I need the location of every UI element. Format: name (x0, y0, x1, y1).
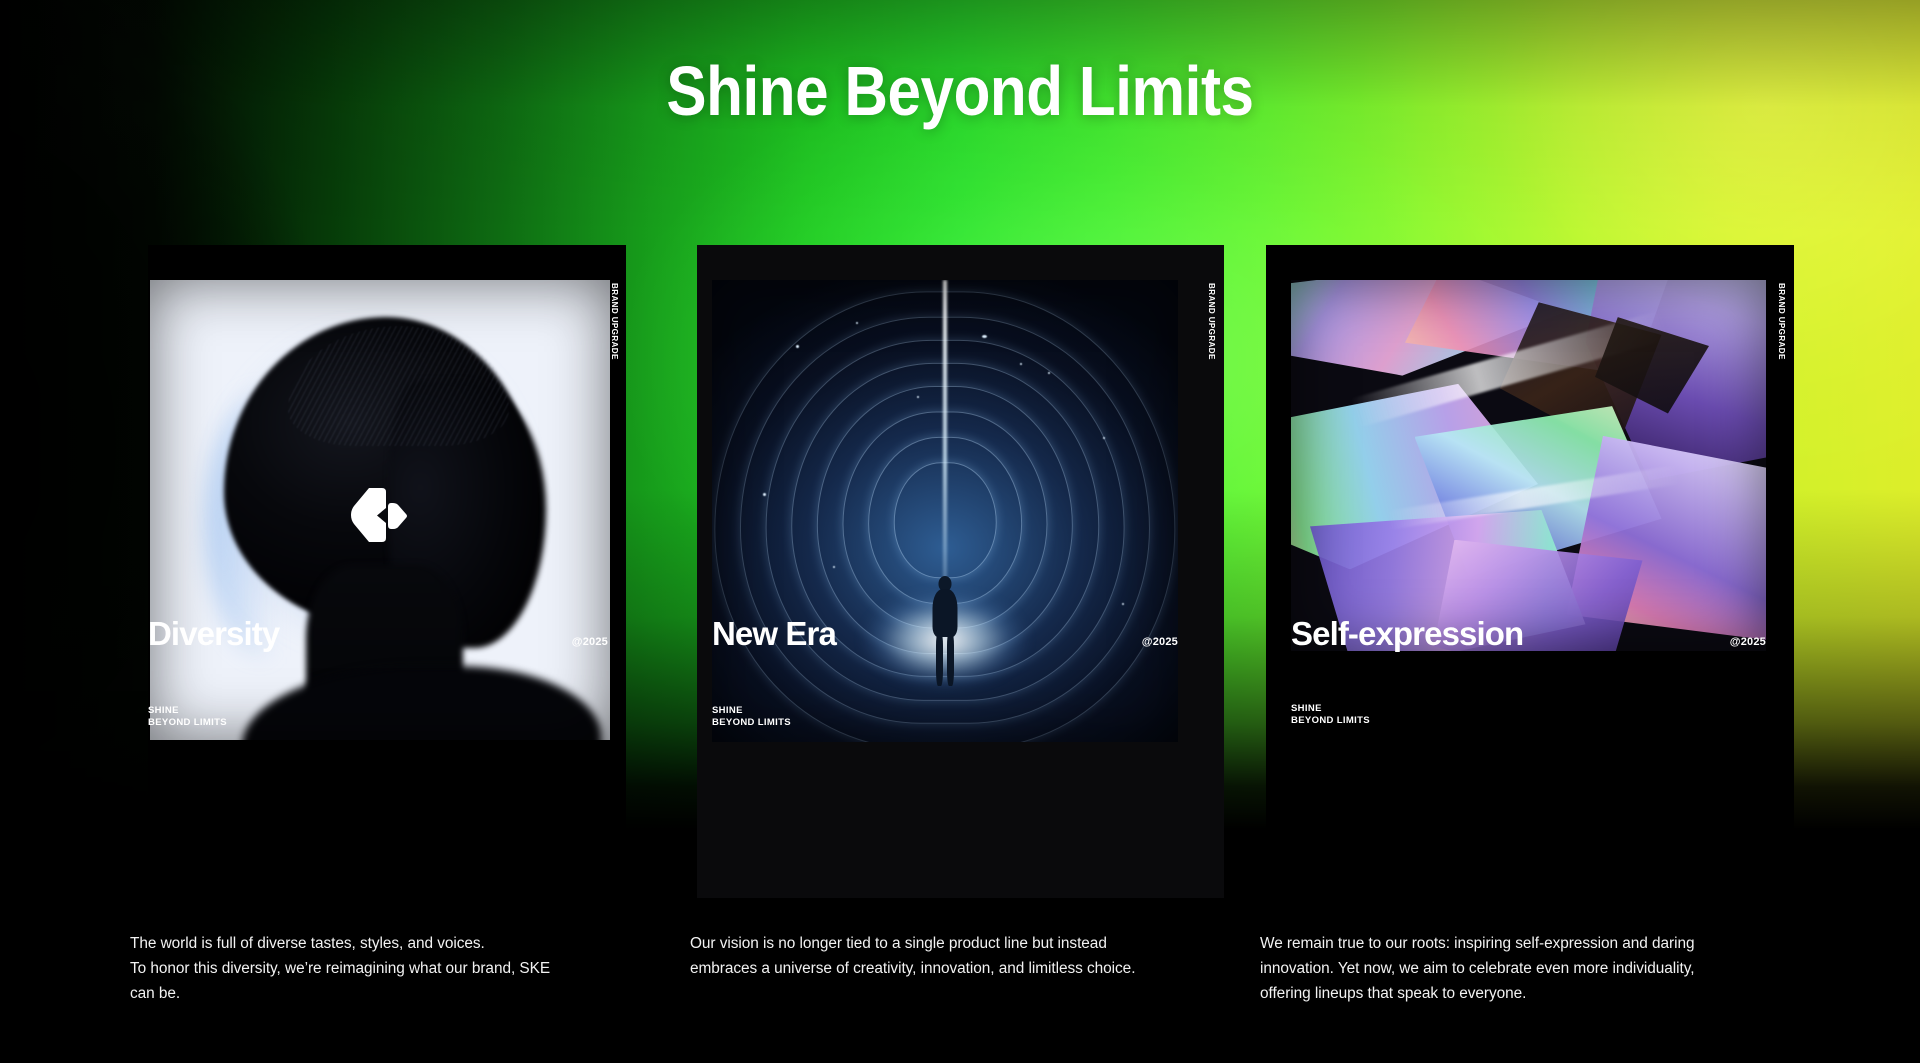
card-self-expression-footer: SHINE BEYOND LIMITS (1291, 703, 1370, 727)
description-self-expression-line3: offering lineups that speak to everyone. (1260, 982, 1805, 1007)
card-diversity-footer-line1: SHINE (148, 705, 227, 717)
card-new-era-title-row: New Era @2025 (712, 617, 1178, 650)
tunnel-star (917, 396, 919, 398)
tunnel-light-beam (943, 280, 947, 613)
card-self-expression-brand-upgrade-tag: BRAND UPGRADE (1778, 283, 1787, 360)
description-new-era-line1: Our vision is no longer tied to a single… (690, 932, 1235, 957)
card-diversity-brand-upgrade-tag: BRAND UPGRADE (611, 283, 620, 360)
card-diversity-title-row: Diversity @2025 (148, 617, 608, 650)
card-diversity-media (150, 280, 610, 740)
card-diversity-footer: SHINE BEYOND LIMITS (148, 705, 227, 729)
card-diversity-title: Diversity (148, 617, 279, 650)
description-diversity: The world is full of diverse tastes, sty… (130, 932, 600, 1007)
card-new-era-footer: SHINE BEYOND LIMITS (712, 705, 791, 729)
card-self-expression-title-row: Self-expression @2025 (1291, 617, 1766, 650)
description-new-era: Our vision is no longer tied to a single… (690, 932, 1235, 982)
description-self-expression: We remain true to our roots: inspiring s… (1260, 932, 1805, 1007)
card-new-era-year: @2025 (1142, 637, 1178, 648)
description-self-expression-line2: innovation. Yet now, we aim to celebrate… (1260, 957, 1805, 982)
description-self-expression-line1: We remain true to our roots: inspiring s… (1260, 932, 1805, 957)
card-new-era-title: New Era (712, 617, 836, 650)
card-new-era-brand-upgrade-tag: BRAND UPGRADE (1208, 283, 1217, 360)
card-diversity-year: @2025 (572, 637, 608, 648)
description-new-era-line2: embraces a universe of creativity, innov… (690, 957, 1235, 982)
card-new-era-footer-line2: BEYOND LIMITS (712, 717, 791, 729)
tunnel-star (1020, 363, 1022, 365)
card-new-era-media (712, 280, 1178, 742)
portrait-silhouette-image (150, 280, 610, 740)
iridescent-crystal-image (1291, 280, 1766, 651)
cards-row: BRAND UPGRADE Diversity @2025 SHINE BEYO… (0, 0, 1920, 1063)
card-diversity-footer-line2: BEYOND LIMITS (148, 717, 227, 729)
presentation-slide: Shine Beyond Limits (0, 0, 1920, 1063)
card-self-expression-title: Self-expression (1291, 617, 1523, 650)
description-diversity-line1: The world is full of diverse tastes, sty… (130, 932, 600, 957)
description-diversity-line2: To honor this diversity, we’re reimagini… (130, 957, 600, 982)
light-tunnel-image (712, 280, 1178, 742)
description-diversity-line3: can be. (130, 982, 600, 1007)
card-new-era-footer-line1: SHINE (712, 705, 791, 717)
card-diversity[interactable]: BRAND UPGRADE Diversity @2025 SHINE BEYO… (148, 245, 626, 893)
ske-brand-logo (349, 484, 411, 546)
card-new-era[interactable]: BRAND UPGRADE New Era @2025 SHINE BEYOND… (697, 245, 1224, 898)
card-self-expression-footer-line2: BEYOND LIMITS (1291, 715, 1370, 727)
card-self-expression-year: @2025 (1730, 637, 1766, 648)
tunnel-star (763, 493, 766, 496)
card-self-expression-footer-line1: SHINE (1291, 703, 1370, 715)
card-self-expression[interactable]: BRAND UPGRADE Self-expression @2025 SHIN… (1266, 245, 1794, 893)
tunnel-star (796, 345, 799, 348)
card-self-expression-media (1291, 280, 1766, 651)
